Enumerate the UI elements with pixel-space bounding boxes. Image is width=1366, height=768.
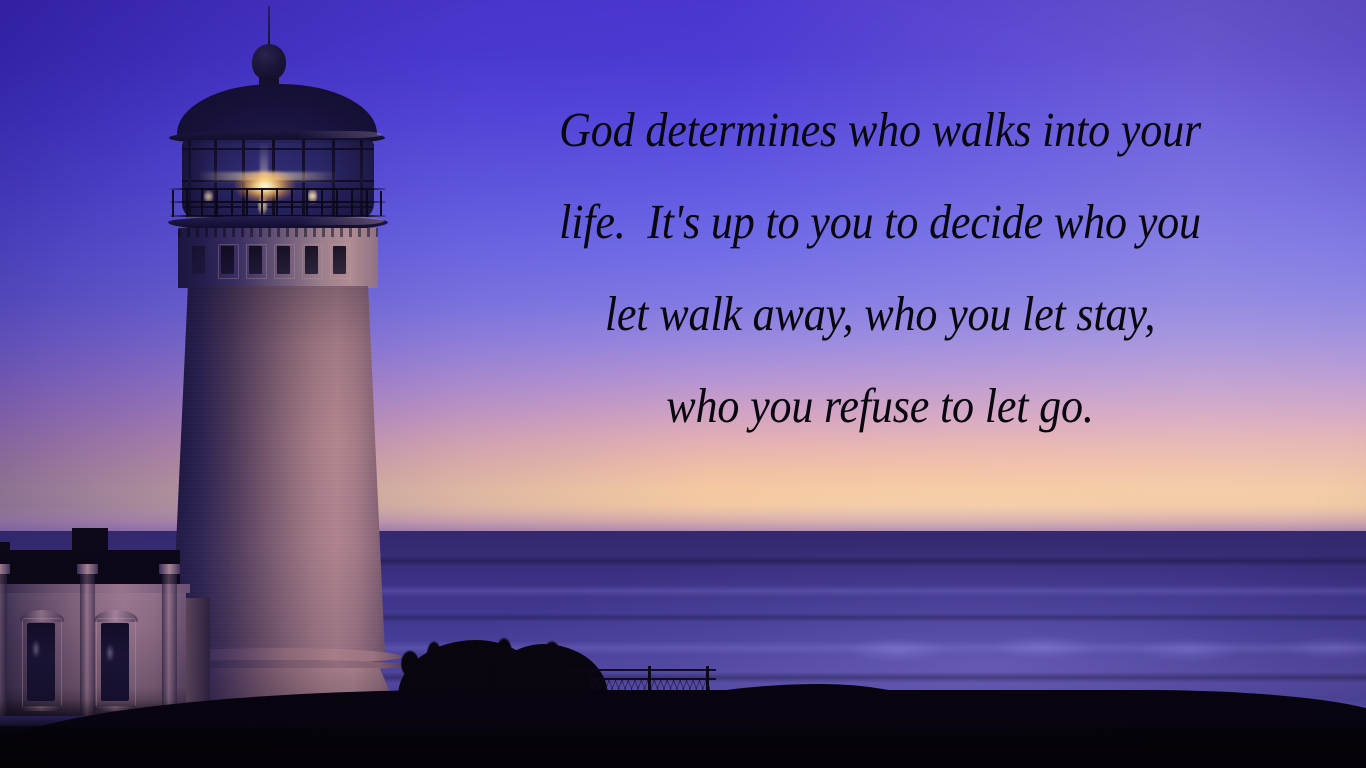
window-glint <box>32 640 40 658</box>
watch-room-window <box>333 246 346 274</box>
railing-baluster <box>336 189 338 218</box>
gallery-deck-highlight <box>298 217 384 225</box>
railing-baluster <box>366 190 368 217</box>
house-pilaster-cap <box>77 564 98 574</box>
quote-line-2: life. It's up to you to decide who you <box>466 176 1294 268</box>
railing-baluster <box>321 188 323 218</box>
wallpaper-image: God determines who walks into your life.… <box>0 0 1366 768</box>
railing-baluster <box>172 190 174 217</box>
foliage-tufts <box>392 628 612 674</box>
quote-line-4: who you refuse to let go. <box>466 360 1294 452</box>
railing-baluster <box>291 188 293 219</box>
watch-room-window <box>277 246 290 274</box>
watch-room-window <box>249 246 262 274</box>
railing-baluster <box>201 188 203 217</box>
watch-room-window <box>305 246 318 274</box>
house-pilaster-cap <box>159 564 180 574</box>
watch-room-window <box>192 246 205 274</box>
quote-line-1: God determines who walks into your <box>466 84 1294 176</box>
railing-baluster <box>246 188 248 219</box>
watch-room-window <box>221 246 234 274</box>
railing-baluster <box>186 189 188 217</box>
quote-text: God determines who walks into your life.… <box>466 84 1294 452</box>
fence-rail <box>588 669 716 671</box>
house-pilaster-cap <box>0 564 10 574</box>
foreground-shadow <box>0 726 1366 768</box>
railing-baluster <box>216 188 218 218</box>
roof-ball <box>252 44 286 80</box>
watch-room-corbels <box>178 228 378 237</box>
ocean-swell <box>830 628 1366 672</box>
window-glint <box>106 644 114 662</box>
railing-baluster <box>380 191 382 216</box>
railing-baluster <box>351 189 353 217</box>
railing-baluster <box>306 188 308 219</box>
quote-line-3: let walk away, who you let stay, <box>466 268 1294 360</box>
lantern-roof-highlight <box>298 131 382 138</box>
railing-baluster <box>231 188 233 219</box>
lantern-rail <box>182 148 374 150</box>
